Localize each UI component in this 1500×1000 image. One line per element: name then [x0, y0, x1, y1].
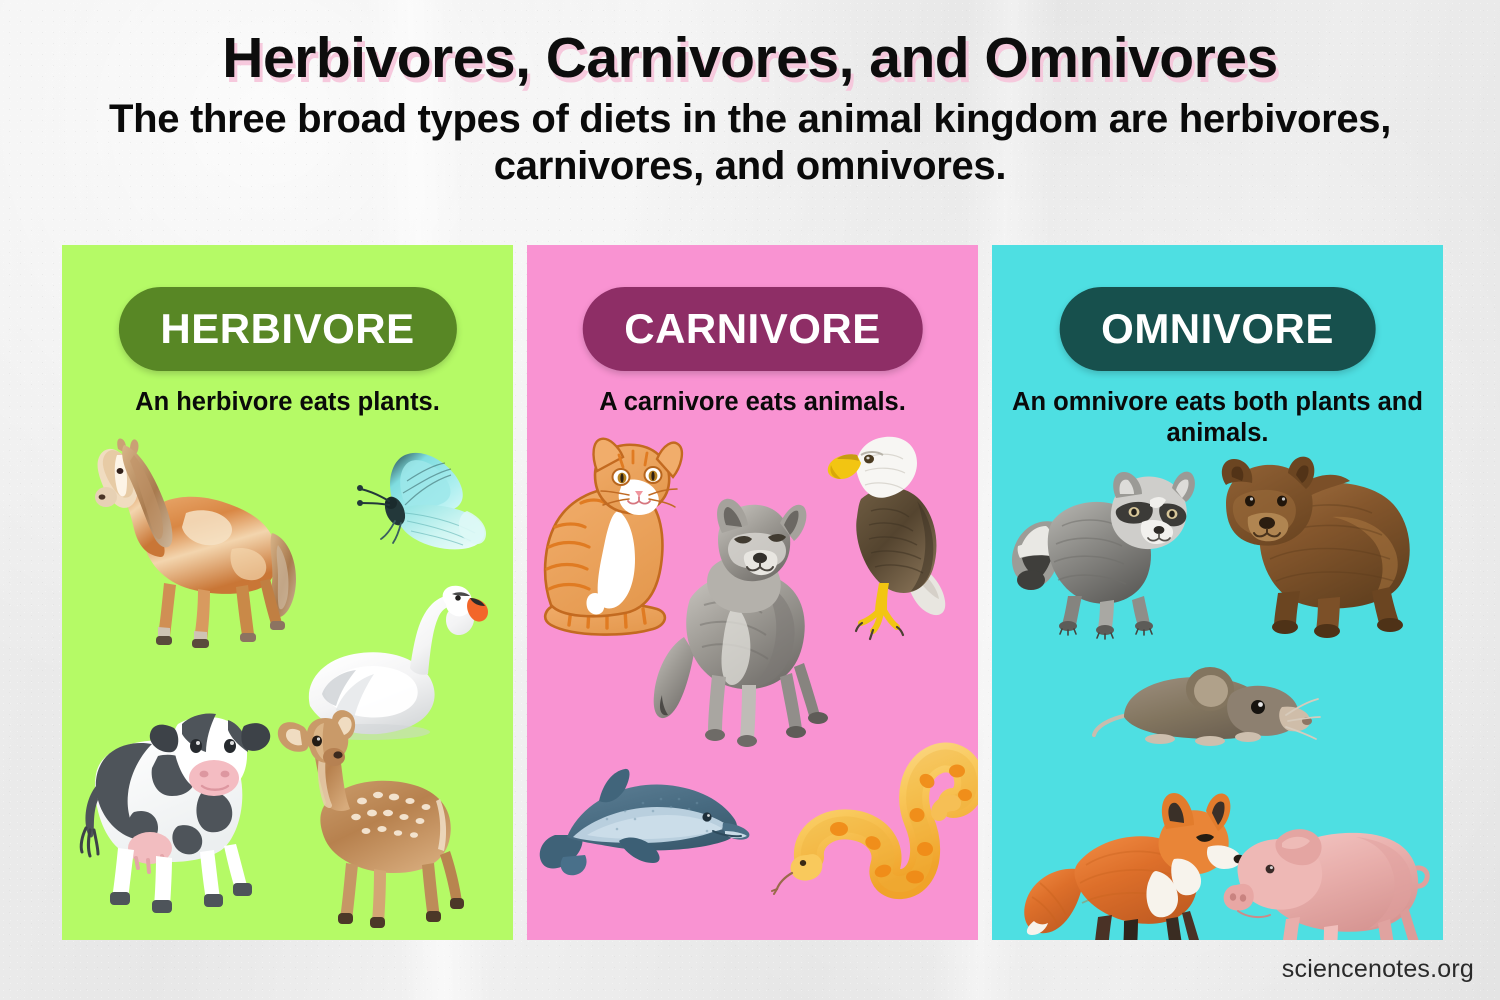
carnivore-animals	[527, 245, 978, 940]
mouse-illustration	[1092, 645, 1322, 760]
header: Herbivores, Carnivores, and Omnivores Th…	[0, 0, 1500, 190]
infographic-poster: Herbivores, Carnivores, and Omnivores Th…	[0, 0, 1500, 1000]
site-attribution: sciencenotes.org	[1282, 955, 1474, 984]
wolf-illustration	[642, 495, 857, 755]
horse-illustration	[90, 437, 310, 652]
fox-illustration	[1020, 785, 1250, 940]
pig-illustration	[1220, 803, 1435, 940]
page-title: Herbivores, Carnivores, and Omnivores	[0, 0, 1500, 90]
panel-omnivore: OMNIVORE An omnivore eats both plants an…	[992, 245, 1443, 940]
panel-carnivore: CARNIVORE A carnivore eats animals.	[527, 245, 978, 940]
butterfly-illustration	[347, 445, 497, 575]
cow-illustration	[78, 700, 293, 930]
dolphin-illustration	[537, 745, 757, 905]
omnivore-animals	[992, 245, 1443, 940]
panels-row: HERBIVORE An herbivore eats plants.	[62, 245, 1444, 940]
panel-herbivore: HERBIVORE An herbivore eats plants.	[62, 245, 513, 940]
page-subtitle: The three broad types of diets in the an…	[70, 96, 1430, 190]
deer-illustration	[270, 713, 470, 940]
raccoon-illustration	[1004, 460, 1199, 635]
herbivore-animals	[62, 245, 513, 940]
snake-illustration	[787, 745, 977, 905]
bear-illustration	[1204, 443, 1419, 638]
